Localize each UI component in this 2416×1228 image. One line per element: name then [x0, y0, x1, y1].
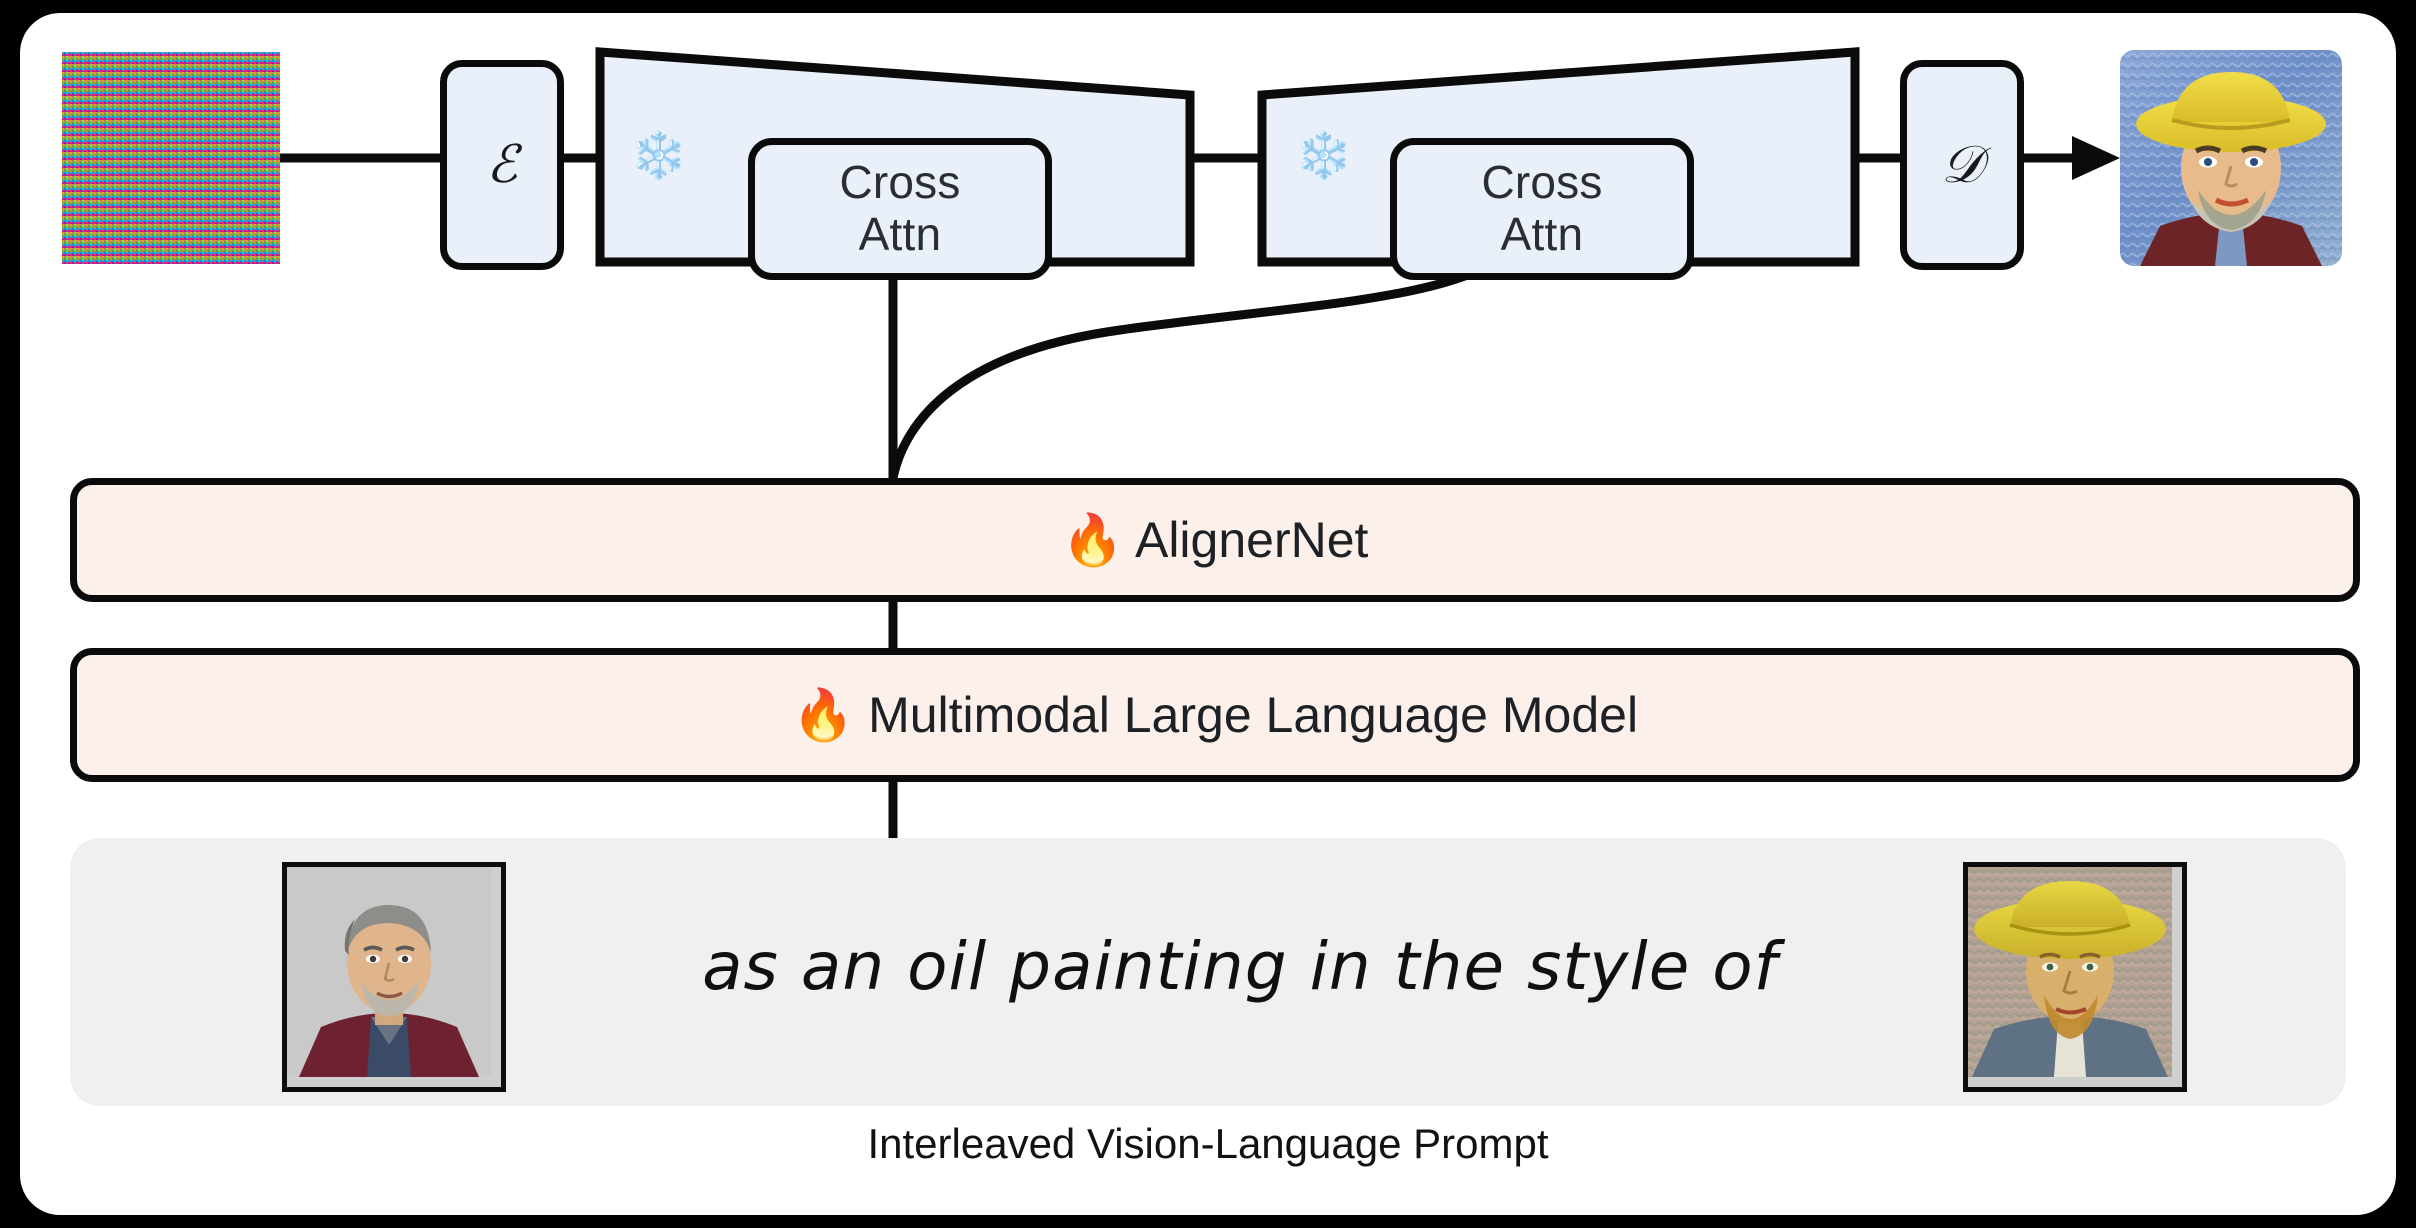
diagram-stage: ℰ ❄️ ❄️ Cross Attn Cross Attn 𝒟 [0, 0, 2416, 1228]
cross-attn-label-line1: Cross [839, 157, 960, 209]
encoder-glyph: ℰ [486, 139, 517, 191]
cross-attn-label-line2: Attn [1501, 209, 1584, 261]
subject-photo [282, 862, 506, 1092]
prompt-text[interactable]: as an oil painting in the style of [702, 928, 1778, 1005]
decoder-glyph: 𝒟 [1941, 139, 1983, 191]
latent-noise-image [62, 52, 280, 264]
snowflake-icon-up: ❄️ [1295, 132, 1352, 178]
mllm-module[interactable]: 🔥 Multimodal Large Language Model [70, 648, 2360, 782]
cross-attn-box-down[interactable]: Cross Attn [748, 138, 1052, 280]
prompt-caption-wrapper: Interleaved Vision-Language Prompt [70, 1120, 2346, 1168]
cross-attn-label-line2: Attn [859, 209, 942, 261]
aligner-net-module[interactable]: 🔥 AlignerNet [70, 478, 2360, 602]
snowflake-icon-down: ❄️ [630, 132, 687, 178]
encoder-block: ℰ [440, 60, 564, 270]
style-reference-painting [1963, 862, 2187, 1092]
output-arrowhead [2072, 136, 2120, 180]
prompt-caption: Interleaved Vision-Language Prompt [70, 1120, 2346, 1168]
generated-output-image [2120, 50, 2342, 266]
mllm-label: 🔥 Multimodal Large Language Model [792, 686, 1638, 745]
decoder-block: 𝒟 [1900, 60, 2024, 270]
cross-attn-label-line1: Cross [1481, 157, 1602, 209]
cross-attn-box-up[interactable]: Cross Attn [1390, 138, 1694, 280]
prompt-text-wrapper: as an oil painting in the style of [640, 928, 1840, 1005]
aligner-net-label: 🔥 AlignerNet [1062, 511, 1369, 570]
